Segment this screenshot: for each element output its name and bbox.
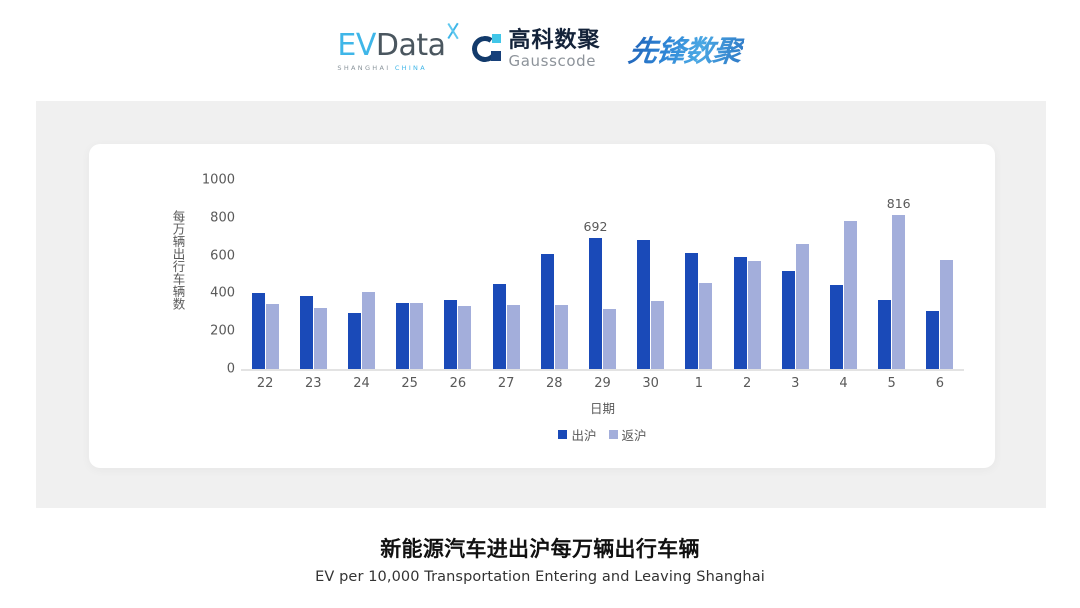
bar-返沪-28[interactable] [555,305,568,369]
bar-holder [314,308,327,369]
bar-出沪-2[interactable] [734,257,747,369]
x-axis-tick-label: 5 [888,376,896,391]
bar-holder [396,303,409,369]
x-axis-tick-label: 27 [498,376,515,391]
bar-出沪-27[interactable] [493,284,506,369]
bar-holder [796,244,809,369]
evdata-word-secondary: Data [376,28,446,63]
x-axis-tick-label: 3 [791,376,799,391]
bar-group [819,180,867,369]
gausscode-chinese-name: 高科数聚 [509,30,601,52]
bar-返沪-30[interactable] [651,301,664,369]
xianfeng-logo: 先锋数聚 [624,28,746,70]
x-axis-tick-label: 1 [695,376,703,391]
evdata-logo: EVData SHANGHAI CHINA [337,27,445,72]
bar-holder [300,296,313,369]
bar-group [482,180,530,369]
x-axis-tick-label: 28 [546,376,563,391]
bar-出沪-22[interactable] [252,293,265,369]
bar-holder [734,257,747,369]
bar-group [530,180,578,369]
evdata-tagline: SHANGHAI CHINA [337,64,427,72]
bar-holder [493,284,506,369]
x-axis-line [241,369,964,371]
bar-返沪-1[interactable] [699,283,712,369]
bar-返沪-24[interactable] [362,292,375,369]
x-axis-title: 日期 [241,398,964,417]
bar-group [675,180,723,369]
bar-holder [651,301,664,369]
bar-holder: 816 [892,215,905,369]
x-axis-tick-label: 4 [839,376,847,391]
x-axis-ticks: 222324252627282930123456 [241,376,964,396]
bar-group [337,180,385,369]
y-axis-tick-label: 0 [189,362,235,377]
bar-出沪-1[interactable] [685,253,698,369]
y-axis-tick-label: 400 [189,286,235,301]
bar-返沪-25[interactable] [410,303,423,369]
bar-holder [252,293,265,369]
bar-返沪-5[interactable] [892,215,905,369]
bar-holder [844,221,857,369]
legend-label: 返沪 [622,425,647,444]
bar-返沪-27[interactable] [507,305,520,369]
bar-返沪-22[interactable] [266,304,279,369]
x-axis-tick-label: 2 [743,376,751,391]
g-ring-icon [472,34,502,64]
bar-holder [878,300,891,369]
bar-holder [830,285,843,369]
evdata-tagline-right: CHINA [395,64,427,72]
x-axis-tick-label: 30 [642,376,659,391]
x-axis-tick-label: 22 [257,376,274,391]
bar-holder [266,304,279,369]
legend-swatch-icon [609,430,618,439]
bar-holder [444,300,457,369]
legend-swatch-icon [558,430,567,439]
x-axis-tick-label: 25 [401,376,418,391]
bar-holder: 692 [589,238,602,369]
legend-item-返沪[interactable]: 返沪 [609,425,647,444]
y-axis-tick-label: 600 [189,248,235,263]
gausscode-wordmark: 高科数聚 Gausscode [509,30,601,69]
plot-area: 692816 [241,180,964,369]
bar-holder [782,271,795,369]
bar-返沪-3[interactable] [796,244,809,369]
bar-出沪-3[interactable] [782,271,795,369]
legend-item-出沪[interactable]: 出沪 [558,425,596,444]
bar-返沪-4[interactable] [844,221,857,369]
bar-group: 816 [868,180,916,369]
bar-返沪-26[interactable] [458,306,471,369]
y-axis-ticks: 02004006008001000 [185,144,235,468]
evdata-tagline-left: SHANGHAI [337,64,390,72]
bar-holder [748,261,761,369]
bar-holder [603,309,616,369]
bar-group [916,180,964,369]
bar-holder [555,305,568,369]
chart-legend: 出沪返沪 [241,425,964,444]
bar-出沪-5[interactable] [878,300,891,369]
bar-group: 692 [578,180,626,369]
bar-出沪-23[interactable] [300,296,313,369]
bar-group [289,180,337,369]
bar-holder [699,283,712,369]
bar-holder [637,240,650,369]
bar-holder [507,305,520,369]
bar-出沪-30[interactable] [637,240,650,369]
y-axis-tick-label: 200 [189,324,235,339]
evdata-wordmark: EVData [337,31,445,61]
bar-返沪-29[interactable] [603,309,616,369]
bar-value-label: 692 [584,219,608,234]
bar-返沪-23[interactable] [314,308,327,369]
bar-group [434,180,482,369]
evdata-word-primary: EV [337,28,375,63]
bar-group [771,180,819,369]
bar-holder [685,253,698,369]
bar-holder [926,311,939,369]
bar-holder [940,260,953,369]
bar-出沪-24[interactable] [348,313,361,369]
caption-english: EV per 10,000 Transportation Entering an… [0,569,1080,585]
bar-chart: 每万辆出行车辆数 02004006008001000 692816 222324… [89,144,995,468]
legend-label: 出沪 [571,425,596,444]
bar-group [723,180,771,369]
x-cross-icon [444,22,462,40]
chart-card: 每万辆出行车辆数 02004006008001000 692816 222324… [89,144,995,468]
bar-holder [362,292,375,369]
bar-group [627,180,675,369]
x-axis-tick-label: 6 [936,376,944,391]
bar-group [386,180,434,369]
y-axis-tick-label: 800 [189,210,235,225]
bar-group [241,180,289,369]
bar-出沪-26[interactable] [444,300,457,369]
bar-出沪-25[interactable] [396,303,409,369]
bar-holder [348,313,361,369]
logo-bar: EVData SHANGHAI CHINA 高科数聚 Gausscode 先锋数… [0,18,1080,80]
x-axis-tick-label: 23 [305,376,322,391]
y-axis-tick-label: 1000 [189,173,235,188]
bar-holder [410,303,423,369]
x-axis-tick-label: 29 [594,376,611,391]
caption-chinese: 新能源汽车进出沪每万辆出行车辆 [0,533,1080,563]
bar-出沪-28[interactable] [541,254,554,369]
bar-holder [458,306,471,369]
x-axis-tick-label: 26 [450,376,467,391]
bar-返沪-6[interactable] [940,260,953,369]
x-axis-tick-label: 24 [353,376,370,391]
bar-出沪-29[interactable] [589,238,602,369]
bar-value-label: 816 [887,196,911,211]
bar-holder [541,254,554,369]
bar-出沪-4[interactable] [830,285,843,369]
gausscode-english-name: Gausscode [509,54,601,69]
gausscode-logo: 高科数聚 Gausscode [472,30,601,69]
bar-出沪-6[interactable] [926,311,939,369]
bar-返沪-2[interactable] [748,261,761,369]
